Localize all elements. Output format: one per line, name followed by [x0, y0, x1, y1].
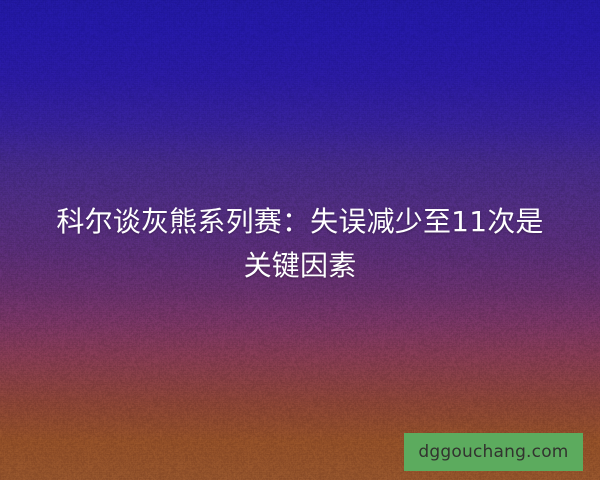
- page-title: 科尔谈灰熊系列赛：失误减少至11次是 关键因素: [0, 200, 600, 288]
- watermark-text: dggouchang.com: [418, 444, 568, 461]
- poster-image: 科尔谈灰熊系列赛：失误减少至11次是 关键因素 dggouchang.com: [0, 0, 600, 480]
- watermark-badge: dggouchang.com: [404, 433, 583, 471]
